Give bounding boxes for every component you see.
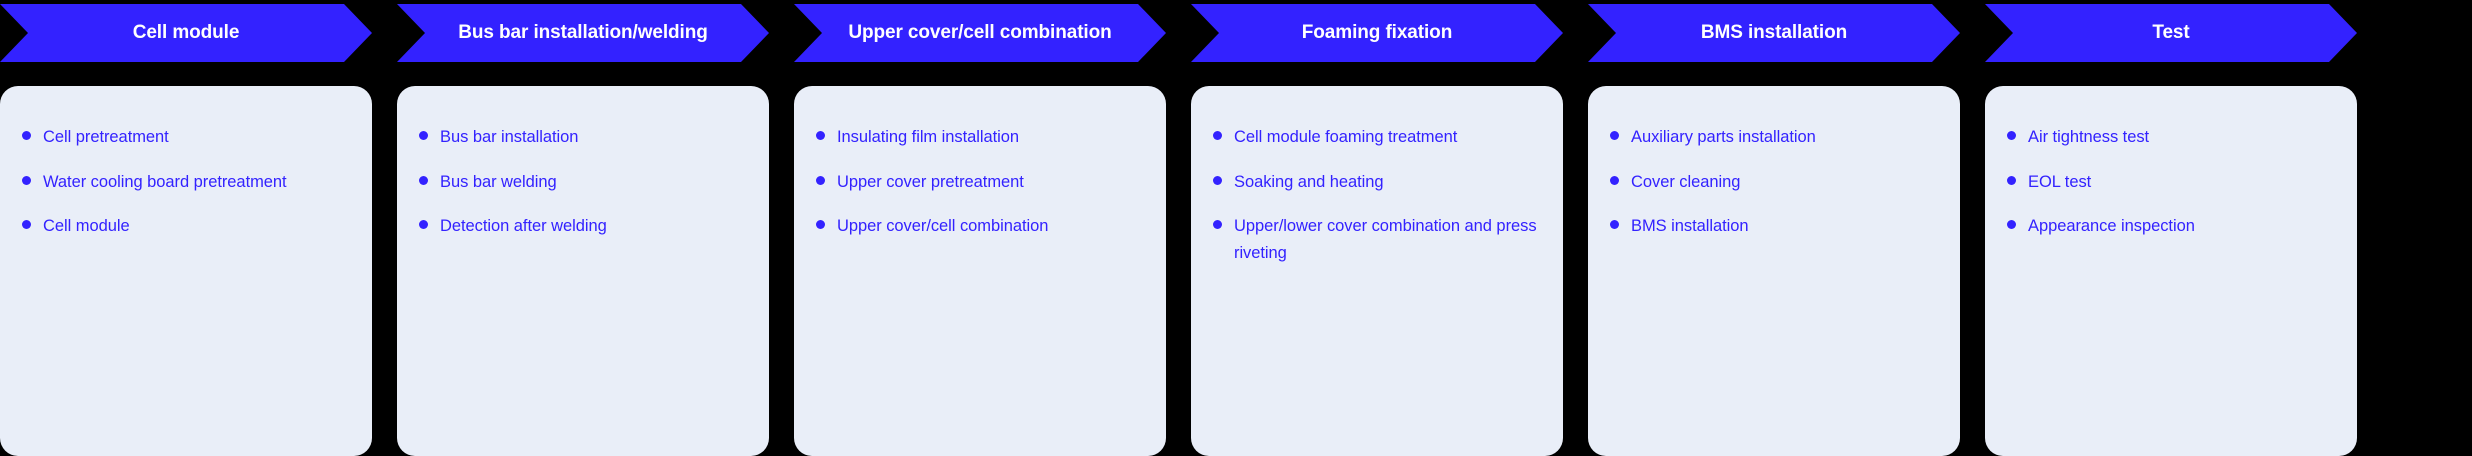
list-item-label: Air tightness test (2028, 124, 2149, 151)
list-item: Appearance inspection (2007, 213, 2335, 240)
bullet-dot-icon (816, 176, 825, 185)
list-item: Upper cover pretreatment (816, 169, 1144, 196)
stage-detail-card: Cell module foaming treatmentSoaking and… (1191, 86, 1563, 456)
stage-title: Foaming fixation (1302, 21, 1452, 45)
stage-title: BMS installation (1701, 21, 1847, 45)
list-item: Cell module foaming treatment (1213, 124, 1541, 151)
list-item: Water cooling board pretreatment (22, 169, 350, 196)
stage-task-list: Bus bar installationBus bar weldingDetec… (419, 124, 747, 240)
list-item: Auxiliary parts installation (1610, 124, 1938, 151)
list-item: EOL test (2007, 169, 2335, 196)
process-stage: BMS installationAuxiliary parts installa… (1588, 0, 1960, 456)
list-item-label: EOL test (2028, 169, 2091, 196)
bullet-dot-icon (22, 220, 31, 229)
stage-banner-chevron[interactable]: Cell module (0, 4, 372, 62)
bullet-dot-icon (1213, 220, 1222, 229)
stage-task-list: Cell module foaming treatmentSoaking and… (1213, 124, 1541, 267)
list-item-label: Water cooling board pretreatment (43, 169, 287, 196)
list-item: Upper cover/cell combination (816, 213, 1144, 240)
list-item-label: Bus bar installation (440, 124, 578, 151)
stage-title: Test (2152, 21, 2189, 45)
stage-task-list: Air tightness testEOL testAppearance ins… (2007, 124, 2335, 240)
bullet-dot-icon (1610, 131, 1619, 140)
list-item: Soaking and heating (1213, 169, 1541, 196)
bullet-dot-icon (816, 131, 825, 140)
bullet-dot-icon (22, 176, 31, 185)
list-item-label: BMS installation (1631, 213, 1749, 240)
process-stage: Cell moduleCell pretreatmentWater coolin… (0, 0, 372, 456)
stage-banner-chevron[interactable]: BMS installation (1588, 4, 1960, 62)
list-item: Bus bar installation (419, 124, 747, 151)
list-item-label: Appearance inspection (2028, 213, 2195, 240)
stage-task-list: Insulating film installationUpper cover … (816, 124, 1144, 240)
list-item: Cell module (22, 213, 350, 240)
process-flow-diagram: Cell moduleCell pretreatmentWater coolin… (0, 0, 2472, 456)
process-stage: Bus bar installation/weldingBus bar inst… (397, 0, 769, 456)
list-item-label: Auxiliary parts installation (1631, 124, 1816, 151)
list-item-label: Soaking and heating (1234, 169, 1384, 196)
list-item-label: Upper cover pretreatment (837, 169, 1024, 196)
bullet-dot-icon (1610, 176, 1619, 185)
bullet-dot-icon (2007, 220, 2016, 229)
bullet-dot-icon (2007, 176, 2016, 185)
list-item: Upper/lower cover combination and press … (1213, 213, 1541, 266)
stage-detail-card: Air tightness testEOL testAppearance ins… (1985, 86, 2357, 456)
stage-banner-chevron[interactable]: Bus bar installation/welding (397, 4, 769, 62)
stage-detail-card: Auxiliary parts installationCover cleani… (1588, 86, 1960, 456)
stage-detail-card: Bus bar installationBus bar weldingDetec… (397, 86, 769, 456)
stage-title: Bus bar installation/welding (458, 21, 708, 45)
stage-banner-chevron[interactable]: Foaming fixation (1191, 4, 1563, 62)
stage-banner-chevron[interactable]: Upper cover/cell combination (794, 4, 1166, 62)
list-item-label: Detection after welding (440, 213, 607, 240)
bullet-dot-icon (419, 220, 428, 229)
stage-task-list: Cell pretreatmentWater cooling board pre… (22, 124, 350, 240)
bullet-dot-icon (1610, 220, 1619, 229)
process-stage: Foaming fixationCell module foaming trea… (1191, 0, 1563, 456)
stage-task-list: Auxiliary parts installationCover cleani… (1610, 124, 1938, 240)
list-item: BMS installation (1610, 213, 1938, 240)
bullet-dot-icon (1213, 176, 1222, 185)
list-item: Air tightness test (2007, 124, 2335, 151)
process-stage: TestAir tightness testEOL testAppearance… (1985, 0, 2357, 456)
process-stage: Upper cover/cell combinationInsulating f… (794, 0, 1166, 456)
stage-detail-card: Insulating film installationUpper cover … (794, 86, 1166, 456)
list-item-label: Bus bar welding (440, 169, 557, 196)
stage-banner-chevron[interactable]: Test (1985, 4, 2357, 62)
bullet-dot-icon (2007, 131, 2016, 140)
bullet-dot-icon (1213, 131, 1222, 140)
stage-detail-card: Cell pretreatmentWater cooling board pre… (0, 86, 372, 456)
list-item-label: Upper cover/cell combination (837, 213, 1048, 240)
list-item-label: Cell module (43, 213, 130, 240)
list-item: Bus bar welding (419, 169, 747, 196)
list-item: Cell pretreatment (22, 124, 350, 151)
list-item-label: Cell module foaming treatment (1234, 124, 1457, 151)
bullet-dot-icon (419, 131, 428, 140)
list-item-label: Cover cleaning (1631, 169, 1740, 196)
list-item-label: Insulating film installation (837, 124, 1019, 151)
bullet-dot-icon (419, 176, 428, 185)
list-item-label: Upper/lower cover combination and press … (1234, 213, 1541, 266)
stage-title: Upper cover/cell combination (848, 21, 1111, 45)
bullet-dot-icon (816, 220, 825, 229)
list-item: Cover cleaning (1610, 169, 1938, 196)
bullet-dot-icon (22, 131, 31, 140)
list-item: Insulating film installation (816, 124, 1144, 151)
list-item: Detection after welding (419, 213, 747, 240)
list-item-label: Cell pretreatment (43, 124, 169, 151)
stage-title: Cell module (133, 21, 240, 45)
